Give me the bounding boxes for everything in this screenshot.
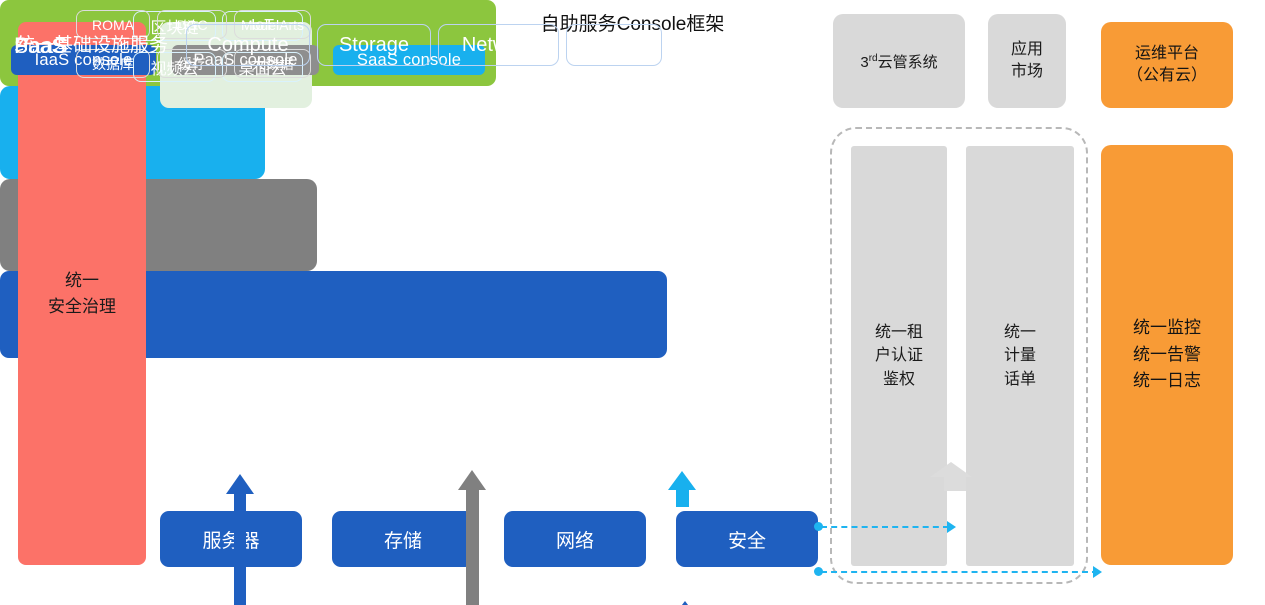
hardware-label-network: 网络 <box>556 526 594 553</box>
security-governance-panel[interactable]: 统一安全治理 <box>18 22 146 565</box>
app-market-label: 应用市场 <box>1011 39 1043 82</box>
ops-platform-header-label: 运维平台（公有云） <box>1127 43 1207 88</box>
hardware-box-security[interactable]: 安全 <box>676 511 818 567</box>
shared-service-billing-label: 统一计量话单 <box>1004 321 1036 391</box>
hardware-label-security: 安全 <box>728 526 766 553</box>
shared-service-billing-column[interactable]: 统一计量话单 <box>966 146 1074 566</box>
infra-chip-cce[interactable]: CCE <box>566 24 662 66</box>
infra-chip-network[interactable]: Network <box>438 24 559 66</box>
hardware-label-server: 服务器 <box>202 526 259 553</box>
shared-service-auth-column[interactable]: 统一租户认证鉴权 <box>851 146 947 566</box>
third-party-cloud-mgmt-box[interactable]: 3rd云管系统 <box>833 14 965 108</box>
architecture-diagram: 统一安全治理 API网关 自助服务Console框架 IaaS console … <box>0 0 1265 605</box>
infra-chip-compute[interactable]: Compute <box>186 24 310 66</box>
hardware-box-network[interactable]: 网络 <box>504 511 646 567</box>
ops-platform-body-label: 统一监控统一告警统一日志 <box>1133 315 1201 394</box>
hardware-label-storage: 存储 <box>384 526 422 553</box>
infra-chip-storage[interactable]: Storage <box>317 24 431 66</box>
hardware-box-storage[interactable]: 存储 <box>332 511 474 567</box>
hardware-box-server[interactable]: 服务器 <box>160 511 302 567</box>
security-governance-label: 统一安全治理 <box>48 268 116 319</box>
shared-service-auth-label: 统一租户认证鉴权 <box>875 321 923 391</box>
infrastructure-layer-label: 统一基础设施服务 <box>16 0 168 87</box>
third-party-cloud-mgmt-label: 3rd云管系统 <box>860 51 937 72</box>
app-market-box[interactable]: 应用市场 <box>988 14 1066 108</box>
ops-platform-header-box[interactable]: 运维平台（公有云） <box>1101 22 1233 108</box>
